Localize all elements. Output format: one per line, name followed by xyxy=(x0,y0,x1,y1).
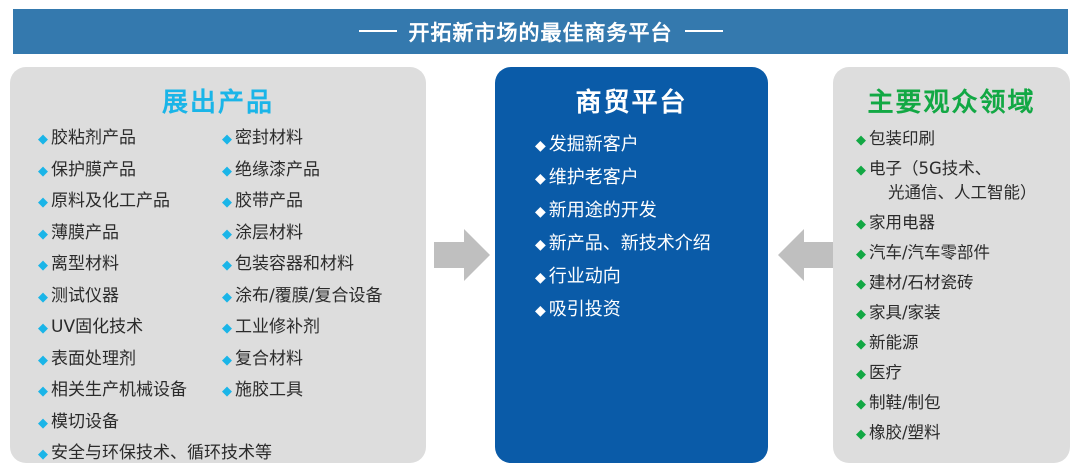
list-item: ◆家用电器 xyxy=(856,214,1037,232)
list-item-label: 涂层材料 xyxy=(235,224,303,243)
list-item-label: UV固化技术 xyxy=(51,318,143,337)
diamond-bullet-icon: ◆ xyxy=(38,259,48,272)
list-item: ◆发掘新客户 xyxy=(535,135,711,168)
list-item-label: 新产品、新技术介绍 xyxy=(549,234,711,254)
panel-visitor-sectors: 主要观众领域 ◆包装印刷 ◆电子（5G技术、光通信、人工智能） ◆家用电器 ◆汽… xyxy=(833,67,1070,463)
diamond-bullet-icon: ◆ xyxy=(856,428,866,441)
list-item: ◆建材/石材瓷砖 xyxy=(856,274,1037,292)
diamond-bullet-icon: ◆ xyxy=(38,291,48,304)
diamond-bullet-icon: ◆ xyxy=(535,205,546,219)
list-item: ◆橡胶/塑料 xyxy=(856,424,1037,442)
list-item: ◆复合材料 xyxy=(222,350,382,382)
diamond-bullet-icon: ◆ xyxy=(222,385,232,398)
panel-left-title: 展出产品 xyxy=(10,82,426,119)
list-item-label: 新能源 xyxy=(869,334,919,352)
product-list-column-b: ◆密封材料 ◆绝缘漆产品 ◆胶带产品 ◆涂层材料 ◆包装容器和材料 ◆涂布/覆膜… xyxy=(222,129,382,413)
list-item: ◆模切设备 xyxy=(38,413,272,445)
list-item-label: 保护膜产品 xyxy=(51,161,136,180)
list-item-label: 吸引投资 xyxy=(549,300,621,320)
diamond-bullet-icon: ◆ xyxy=(856,308,866,321)
list-item-label: 行业动向 xyxy=(549,267,621,287)
list-item-label: 离型材料 xyxy=(51,255,119,274)
diamond-bullet-icon: ◆ xyxy=(222,133,232,146)
list-item-label: 建材/石材瓷砖 xyxy=(869,274,974,292)
diamond-bullet-icon: ◆ xyxy=(222,291,232,304)
list-item-label: 橡胶/塑料 xyxy=(869,424,941,442)
diamond-bullet-icon: ◆ xyxy=(222,228,232,241)
diamond-bullet-icon: ◆ xyxy=(38,354,48,367)
list-item: ◆维护老客户 xyxy=(535,168,711,201)
list-item: ◆涂层材料 xyxy=(222,224,382,256)
list-item-label: 电子（5G技术、 xyxy=(869,159,991,178)
list-item: ◆绝缘漆产品 xyxy=(222,161,382,193)
diamond-bullet-icon: ◆ xyxy=(222,196,232,209)
diamond-bullet-icon: ◆ xyxy=(222,322,232,335)
list-item-label: 薄膜产品 xyxy=(51,224,119,243)
list-item: ◆吸引投资 xyxy=(535,300,711,333)
list-item-label: 制鞋/制包 xyxy=(869,394,941,412)
list-item-label: 模切设备 xyxy=(51,413,119,432)
diamond-bullet-icon: ◆ xyxy=(535,271,546,285)
list-item: ◆制鞋/制包 xyxy=(856,394,1037,412)
diamond-bullet-icon: ◆ xyxy=(38,385,48,398)
list-item-label: 发掘新客户 xyxy=(549,135,639,155)
panel-right-title: 主要观众领域 xyxy=(833,82,1070,119)
list-item-label: 施胶工具 xyxy=(235,381,303,400)
header-title-text: 开拓新市场的最佳商务平台 xyxy=(409,21,673,45)
diamond-bullet-icon: ◆ xyxy=(38,417,48,430)
diamond-bullet-icon: ◆ xyxy=(222,259,232,272)
visitor-sectors-list: ◆包装印刷 ◆电子（5G技术、光通信、人工智能） ◆家用电器 ◆汽车/汽车零部件… xyxy=(856,130,1037,454)
list-item-label-wrap: 电子（5G技术、光通信、人工智能） xyxy=(869,160,1037,203)
list-item-label: 医疗 xyxy=(869,364,902,382)
diamond-bullet-icon: ◆ xyxy=(222,354,232,367)
diamond-bullet-icon: ◆ xyxy=(535,304,546,318)
list-item: ◆涂布/覆膜/复合设备 xyxy=(222,287,382,319)
list-item-label: 涂布/覆膜/复合设备 xyxy=(235,287,382,306)
list-item-label: 绝缘漆产品 xyxy=(235,161,320,180)
list-item: ◆新能源 xyxy=(856,334,1037,352)
diamond-bullet-icon: ◆ xyxy=(38,196,48,209)
list-item-label: 包装印刷 xyxy=(869,130,935,148)
list-item-label: 相关生产机械设备 xyxy=(51,381,187,400)
list-item: ◆安全与环保技术、循环技术等 xyxy=(38,444,272,471)
list-item-label: 复合材料 xyxy=(235,350,303,369)
header-rule-right-icon xyxy=(685,30,723,32)
list-item: ◆新产品、新技术介绍 xyxy=(535,234,711,267)
list-item-label: 家具/家装 xyxy=(869,304,941,322)
diamond-bullet-icon: ◆ xyxy=(856,248,866,261)
diamond-bullet-icon: ◆ xyxy=(856,338,866,351)
list-item-label: 安全与环保技术、循环技术等 xyxy=(51,444,272,463)
list-item-label-line2: 光通信、人工智能） xyxy=(869,184,1037,202)
list-item: ◆施胶工具 xyxy=(222,381,382,413)
list-item: ◆包装容器和材料 xyxy=(222,255,382,287)
panel-middle-title: 商贸平台 xyxy=(495,82,768,119)
list-item-label: 家用电器 xyxy=(869,214,935,232)
panel-trade-platform: 商贸平台 ◆发掘新客户 ◆维护老客户 ◆新用途的开发 ◆新产品、新技术介绍 ◆行… xyxy=(495,67,768,463)
list-item-label: 维护老客户 xyxy=(549,168,639,188)
list-item: ◆家具/家装 xyxy=(856,304,1037,322)
diamond-bullet-icon: ◆ xyxy=(38,165,48,178)
list-item: ◆工业修补剂 xyxy=(222,318,382,350)
diamond-bullet-icon: ◆ xyxy=(38,322,48,335)
list-item-label: 汽车/汽车零部件 xyxy=(869,244,990,262)
list-item: ◆电子（5G技术、光通信、人工智能） xyxy=(856,160,1037,203)
list-item: ◆行业动向 xyxy=(535,267,711,300)
list-item: ◆医疗 xyxy=(856,364,1037,382)
list-item: ◆胶带产品 xyxy=(222,192,382,224)
diamond-bullet-icon: ◆ xyxy=(222,165,232,178)
list-item-label: 新用途的开发 xyxy=(549,201,657,221)
list-item-label: 包装容器和材料 xyxy=(235,255,354,274)
list-item-label: 表面处理剂 xyxy=(51,350,136,369)
panel-exhibited-products: 展出产品 ◆胶粘剂产品 ◆保护膜产品 ◆原料及化工产品 ◆薄膜产品 ◆离型材料 … xyxy=(10,67,426,463)
list-item: ◆新用途的开发 xyxy=(535,201,711,234)
diamond-bullet-icon: ◆ xyxy=(856,218,866,231)
list-item-label: 测试仪器 xyxy=(51,287,119,306)
header-banner: 开拓新市场的最佳商务平台 xyxy=(13,9,1068,54)
header-title-wrap: 开拓新市场的最佳商务平台 xyxy=(347,17,735,47)
panel-left-columns: ◆胶粘剂产品 ◆保护膜产品 ◆原料及化工产品 ◆薄膜产品 ◆离型材料 ◆测试仪器… xyxy=(10,129,426,459)
arrow-right-icon xyxy=(434,225,490,285)
list-item-label: 密封材料 xyxy=(235,129,303,148)
list-item-label: 胶带产品 xyxy=(235,192,303,211)
diamond-bullet-icon: ◆ xyxy=(535,172,546,186)
infographic-root: 开拓新市场的最佳商务平台 展出产品 ◆胶粘剂产品 ◆保护膜产品 ◆原料及化工产品… xyxy=(0,0,1080,471)
trade-platform-list: ◆发掘新客户 ◆维护老客户 ◆新用途的开发 ◆新产品、新技术介绍 ◆行业动向 ◆… xyxy=(535,135,711,333)
list-item: ◆包装印刷 xyxy=(856,130,1037,148)
diamond-bullet-icon: ◆ xyxy=(856,164,866,177)
diamond-bullet-icon: ◆ xyxy=(856,398,866,411)
list-item-label: 胶粘剂产品 xyxy=(51,129,136,148)
diamond-bullet-icon: ◆ xyxy=(535,139,546,153)
diamond-bullet-icon: ◆ xyxy=(38,228,48,241)
diamond-bullet-icon: ◆ xyxy=(535,238,546,252)
header-rule-left-icon xyxy=(359,30,397,32)
diamond-bullet-icon: ◆ xyxy=(856,134,866,147)
list-item: ◆汽车/汽车零部件 xyxy=(856,244,1037,262)
diamond-bullet-icon: ◆ xyxy=(856,368,866,381)
diamond-bullet-icon: ◆ xyxy=(38,133,48,146)
diamond-bullet-icon: ◆ xyxy=(856,278,866,291)
arrow-left-icon xyxy=(778,225,834,285)
diamond-bullet-icon: ◆ xyxy=(38,448,48,461)
list-item: ◆密封材料 xyxy=(222,129,382,161)
list-item-label: 工业修补剂 xyxy=(235,318,320,337)
list-item-label: 原料及化工产品 xyxy=(51,192,170,211)
